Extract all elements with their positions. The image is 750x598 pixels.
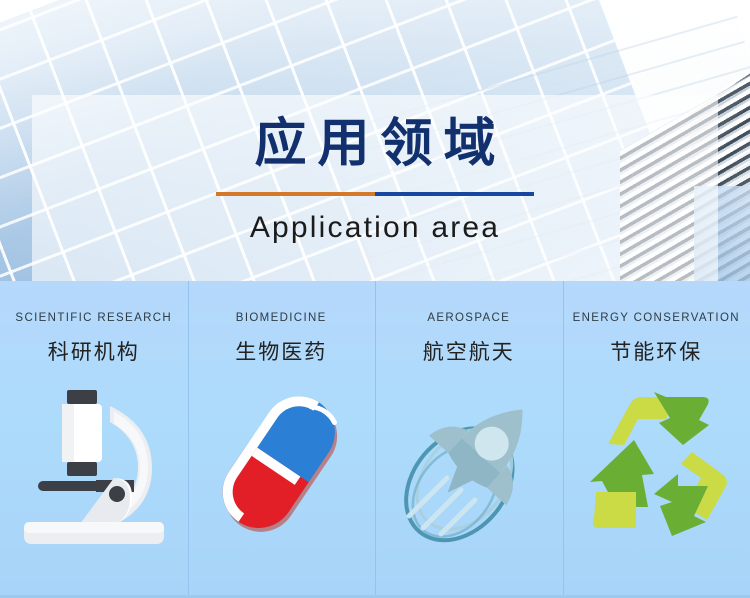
title-divider-blue-segment (375, 192, 534, 196)
card-aerospace[interactable]: AEROSPACE 航空航天 (375, 281, 563, 595)
card-eyebrow: BIOMEDICINE (236, 312, 327, 324)
card-label-cn: 生物医药 (235, 336, 327, 366)
recycling-icon (572, 382, 740, 550)
card-eyebrow: AEROSPACE (427, 312, 510, 324)
page-title-en: Application area (250, 213, 500, 243)
card-energy-conservation[interactable]: ENERGY CONSERVATION 节能环保 (563, 281, 750, 595)
title-divider-orange-segment (216, 192, 375, 196)
microscope-icon (10, 382, 178, 550)
card-biomedicine[interactable]: BIOMEDICINE 生物医药 (188, 281, 376, 595)
capsule-pill-icon (197, 382, 365, 550)
hero-text-block: 应用领域 Application area (0, 0, 750, 281)
card-label-cn: 节能环保 (610, 336, 702, 366)
rocket-icon (385, 382, 553, 550)
card-eyebrow: ENERGY CONSERVATION (573, 312, 740, 324)
title-divider (216, 192, 534, 196)
card-eyebrow: SCIENTIFIC RESEARCH (15, 312, 172, 324)
application-cards-row: SCIENTIFIC RESEARCH 科研机构 (0, 281, 750, 598)
card-scientific-research[interactable]: SCIENTIFIC RESEARCH 科研机构 (0, 281, 188, 595)
card-label-cn: 航空航天 (423, 336, 515, 366)
page-title-cn: 应用领域 (243, 118, 506, 170)
application-area-banner: 应用领域 Application area SCIENTIFIC RESEARC… (0, 0, 750, 598)
card-label-cn: 科研机构 (48, 336, 140, 366)
hero-header: 应用领域 Application area (0, 0, 750, 281)
